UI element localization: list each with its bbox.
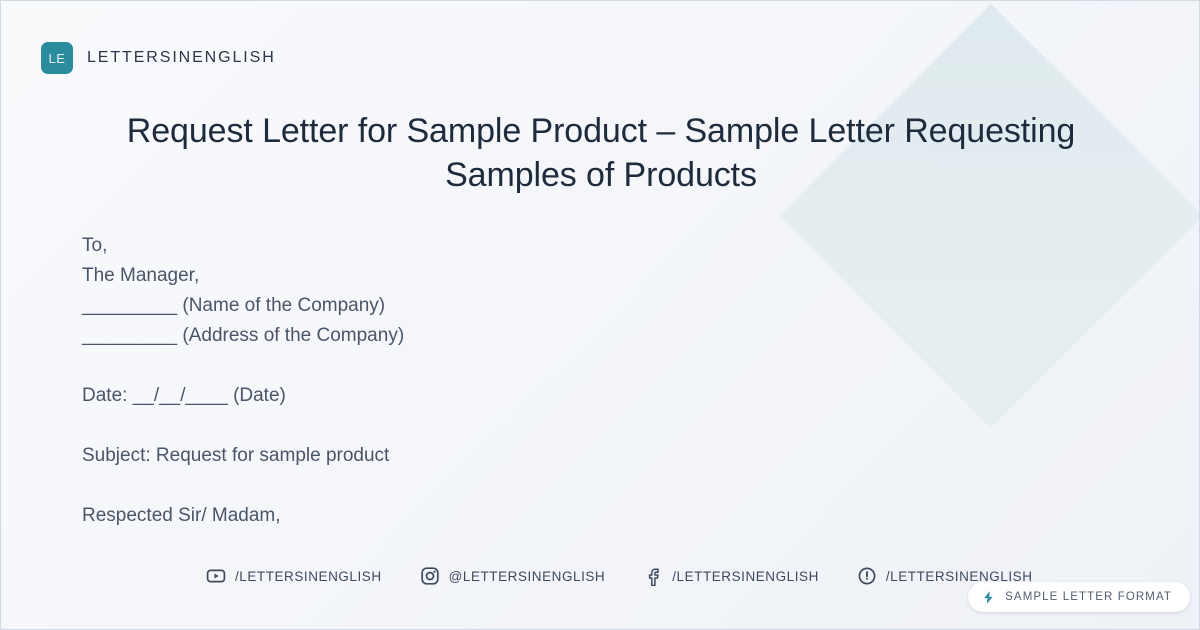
social-label-instagram: @LETTERSINENGLISH xyxy=(449,569,606,584)
subject-line: Subject: Request for sample product xyxy=(82,441,842,471)
to-line: To, xyxy=(82,231,842,261)
address-block: To, The Manager, _________ (Name of the … xyxy=(82,231,842,351)
social-link-facebook[interactable]: /LETTERSINENGLISH xyxy=(643,566,819,586)
spacer-after-subject xyxy=(82,471,842,501)
recipient-line: The Manager, xyxy=(82,261,842,291)
social-label-facebook: /LETTERSINENGLISH xyxy=(672,569,819,584)
brand-wordmark: LETTERSINENGLISH xyxy=(87,49,276,67)
badge-label: SAMPLE LETTER FORMAT xyxy=(1005,591,1172,603)
social-label-youtube: /LETTERSINENGLISH xyxy=(235,569,382,584)
company-address-line: _________ (Address of the Company) xyxy=(82,321,842,351)
brand-logo-mark: LE xyxy=(41,42,73,74)
salutation-line: Respected Sir/ Madam, xyxy=(82,501,842,531)
facebook-icon xyxy=(643,566,663,586)
brand-header: LE LETTERSINENGLISH xyxy=(41,42,276,74)
date-line: Date: __/__/____ (Date) xyxy=(82,381,842,411)
social-link-instagram[interactable]: @LETTERSINENGLISH xyxy=(420,566,606,586)
letter-template-card: LE LETTERSINENGLISH Request Letter for S… xyxy=(0,0,1200,630)
social-links-bar: /LETTERSINENGLISH @LETTERSINENGLISH /LET… xyxy=(206,566,1033,586)
spacer-after-address xyxy=(82,351,842,381)
lightning-bolt-icon xyxy=(981,590,996,605)
pinterest-icon xyxy=(857,566,877,586)
page-title: Request Letter for Sample Product – Samp… xyxy=(101,109,1101,197)
company-name-line: _________ (Name of the Company) xyxy=(82,291,842,321)
sample-letter-format-badge[interactable]: SAMPLE LETTER FORMAT xyxy=(968,582,1190,612)
social-link-youtube[interactable]: /LETTERSINENGLISH xyxy=(206,566,382,586)
instagram-icon xyxy=(420,566,440,586)
spacer-after-date xyxy=(82,411,842,441)
letter-body: To, The Manager, _________ (Name of the … xyxy=(82,231,842,531)
youtube-icon xyxy=(206,566,226,586)
decorative-diamond-shape xyxy=(779,4,1200,428)
